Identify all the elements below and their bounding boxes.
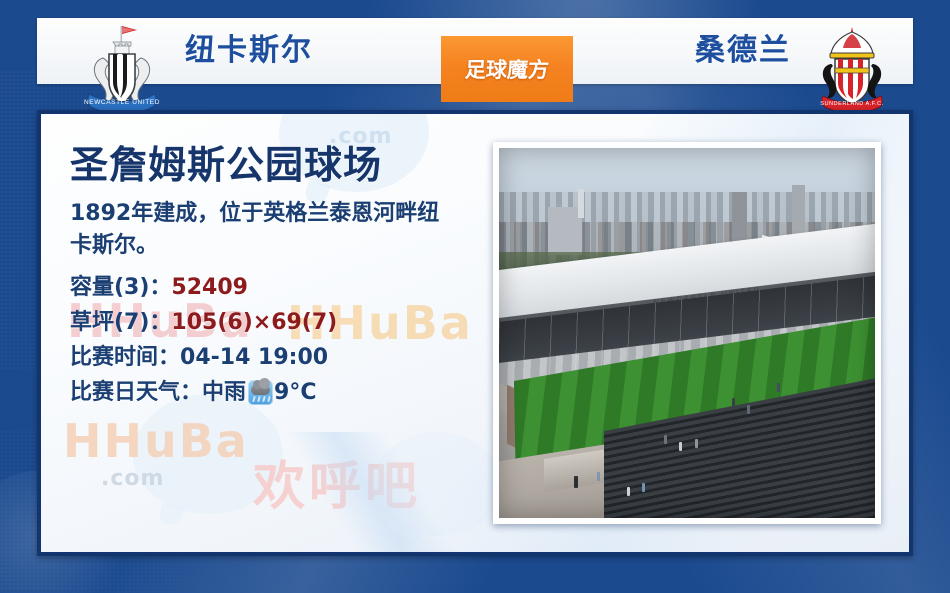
weather-temperature: 9°C	[274, 375, 316, 410]
capacity-label: 容量(3)：	[70, 275, 171, 300]
photo-vignette	[499, 148, 875, 518]
info-row-pitch: 草坪(7)：105(6)×69(7)	[70, 305, 490, 340]
watermark-com-bottom: .com	[101, 466, 164, 491]
newcastle-crest-caption: NEWCASTLE UNITED	[84, 99, 160, 106]
kickoff-label: 比赛时间：	[70, 345, 180, 370]
stadium-description: 1892年建成，位于英格兰泰恩河畔纽卡斯尔。	[70, 198, 440, 262]
stadium-info-block: 圣詹姆斯公园球场 1892年建成，位于英格兰泰恩河畔纽卡斯尔。 容量(3)：52…	[70, 146, 490, 410]
stadium-title: 圣詹姆斯公园球场	[70, 146, 490, 186]
info-row-kickoff: 比赛时间：04-14 19:00	[70, 340, 490, 375]
match-header-bar: NEWCASTLE UNITED 纽卡斯尔 足球魔方 桑德兰	[37, 18, 913, 84]
weather-label: 比赛日天气：	[70, 375, 202, 410]
stadium-info-card: .com HHuBa HHuBa HHuBa .com 欢呼吧 圣詹姆斯公园球场…	[37, 110, 913, 556]
away-team-name: 桑德兰	[695, 18, 791, 84]
capacity-value: 52409	[171, 275, 248, 300]
stadium-photo-frame[interactable]: NEWCASTLE UNITED	[493, 142, 881, 524]
screenshot-root: NEWCASTLE UNITED 纽卡斯尔 足球魔方 桑德兰	[0, 0, 950, 593]
pitch-label: 草坪(7)：	[70, 310, 171, 335]
card-sheen-corner	[221, 432, 521, 556]
watermark-bubble-right	[373, 432, 501, 536]
stadium-photo: NEWCASTLE UNITED	[499, 148, 875, 518]
newcastle-united-crest[interactable]: NEWCASTLE UNITED	[77, 24, 167, 116]
watermark-hhuba-bottom: HHuBa	[63, 414, 249, 468]
site-logo-text: 足球魔方	[464, 54, 550, 84]
weather-condition: 中雨	[202, 375, 246, 410]
site-logo[interactable]: 足球魔方	[441, 36, 573, 102]
rain-cloud-icon	[248, 380, 273, 405]
kickoff-value: 04-14 19:00	[180, 345, 328, 370]
pitch-value: 105(6)×69(7)	[171, 310, 337, 335]
info-row-capacity: 容量(3)：52409	[70, 270, 490, 305]
sunderland-crest-caption: SUNDERLAND A.F.C.	[820, 101, 884, 107]
home-team-name: 纽卡斯尔	[185, 18, 313, 84]
watermark-bubble-bottom	[133, 394, 283, 514]
sunderland-afc-crest[interactable]: SUNDERLAND A.F.C.	[807, 24, 897, 116]
watermark-huanhuba: 欢呼吧	[253, 444, 421, 519]
info-row-weather: 比赛日天气：中雨 9°C	[70, 375, 490, 410]
